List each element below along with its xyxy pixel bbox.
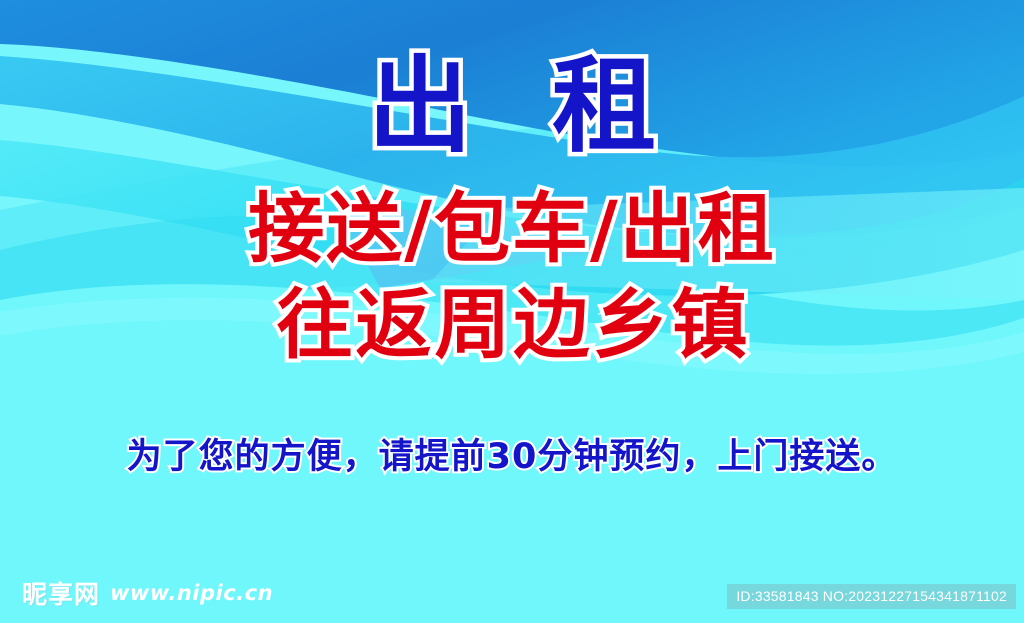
stock-id-badge: ID:33581843 NO:20231227154341871102 [727,584,1016,609]
watermark-logo-text: 昵享网 [22,575,100,611]
service-line-primary: 接送/包车/出租 [248,187,776,271]
poster-canvas: 出 租 接送/包车/出租 往返周边乡镇 为了您的方便，请提前30分钟预约，上门接… [0,0,1024,623]
watermark: 昵享网 www.nipic.cn [22,575,273,611]
booking-notice-text: 为了您的方便，请提前30分钟预约，上门接送。 [127,428,898,479]
watermark-url-text: www.nipic.cn [110,581,273,605]
service-line-secondary: 往返周边乡镇 [274,283,751,367]
page-title: 出 租 [346,52,678,161]
poster-content: 出 租 接送/包车/出租 往返周边乡镇 为了您的方便，请提前30分钟预约，上门接… [0,0,1024,623]
